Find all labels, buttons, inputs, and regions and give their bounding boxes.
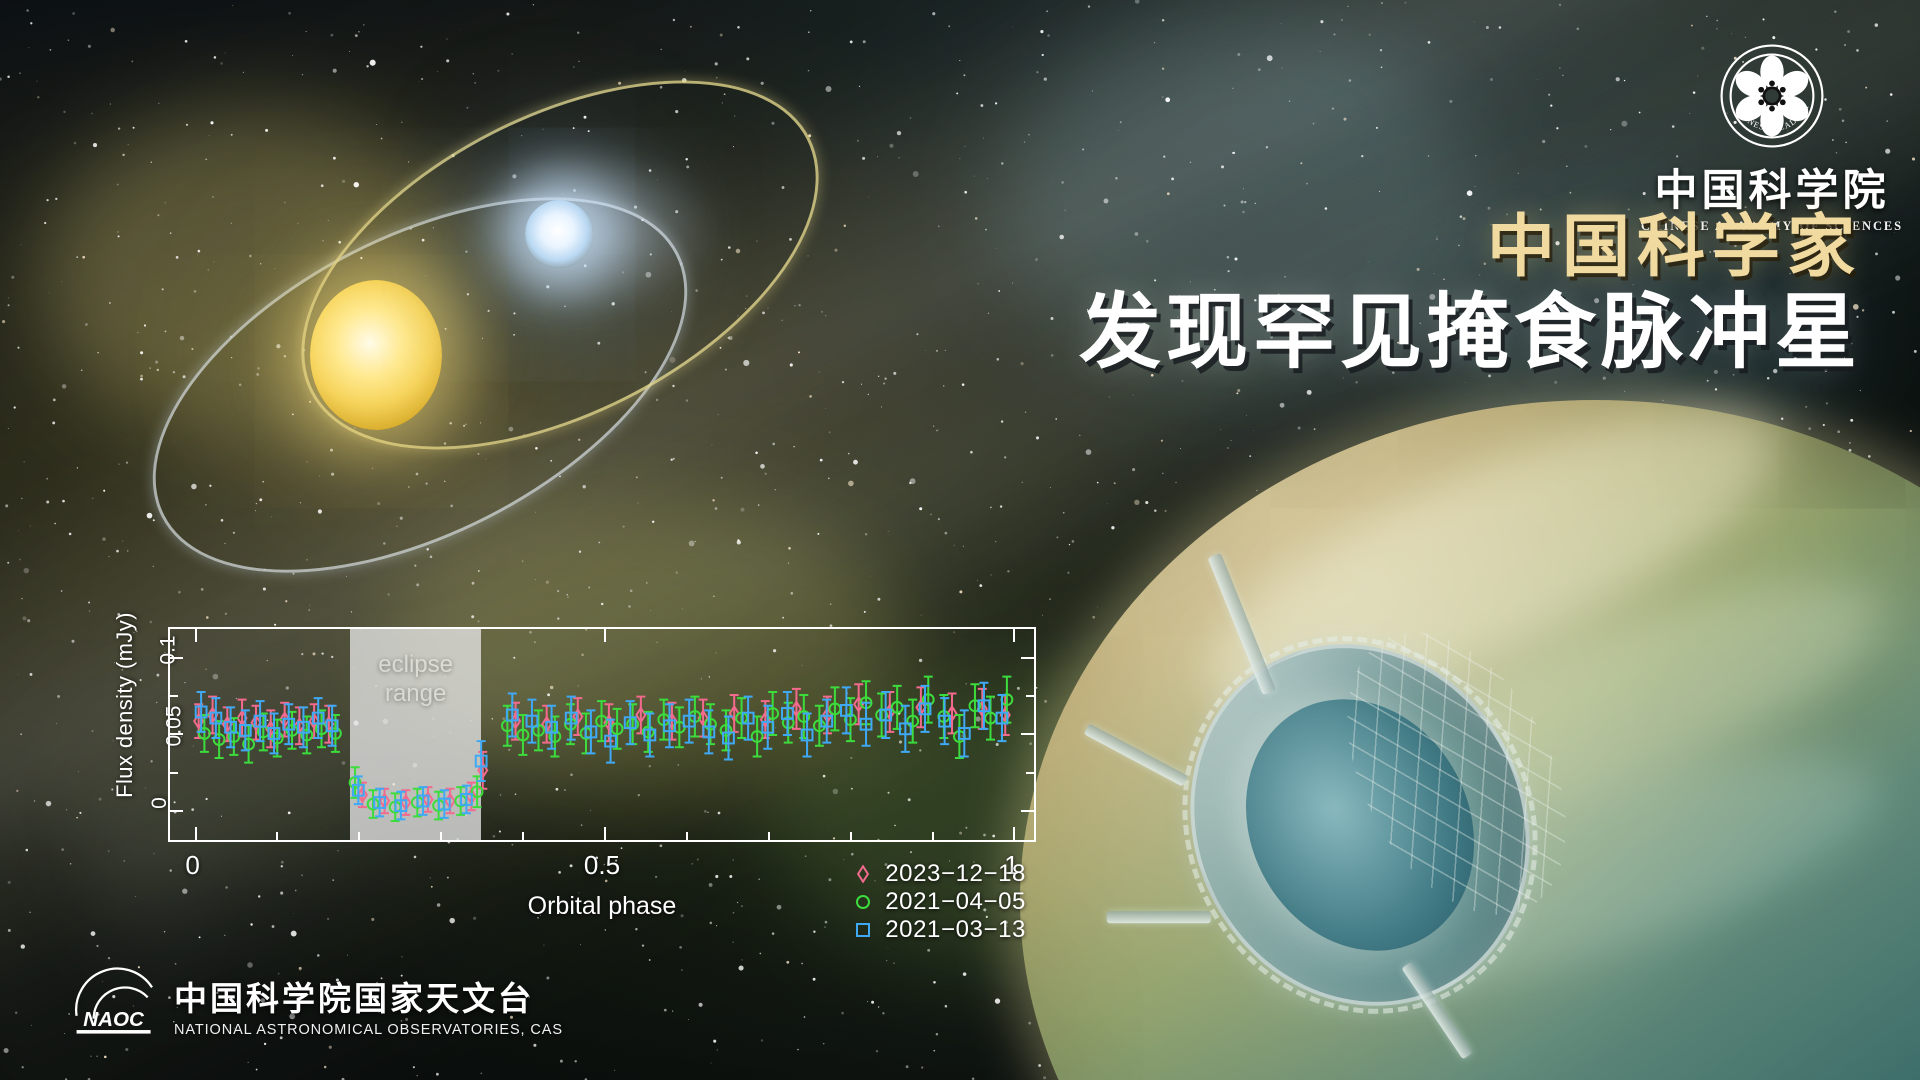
x-minor-tick bbox=[440, 832, 442, 840]
naoc-logo: NAOC 中国科学院国家天文台 NATIONAL ASTRONOMICAL OB… bbox=[72, 966, 563, 1040]
y-minor-tick bbox=[170, 772, 178, 774]
headline: 中国科学家 发现罕见掩食脉冲星 bbox=[1079, 212, 1862, 378]
headline-line-1: 中国科学家 bbox=[1079, 212, 1862, 284]
y-major-tick bbox=[170, 733, 183, 735]
data-points-layer bbox=[170, 629, 1038, 844]
infographic-poster: CHINESE ACADEMY OF SCIENCES 中国科学院 CHINES… bbox=[0, 0, 1920, 1080]
binary-star-system bbox=[120, 95, 820, 565]
x-major-tick bbox=[1013, 827, 1015, 840]
y-minor-tick bbox=[170, 695, 178, 697]
legend-label: 2021−03−13 bbox=[885, 916, 1026, 944]
plot-area: eclipse range bbox=[168, 627, 1036, 842]
naoc-wordmark: 中国科学院国家天文台 NATIONAL ASTRONOMICAL OBSERVA… bbox=[174, 972, 563, 1040]
white-pulsar-star bbox=[525, 200, 593, 268]
y-major-tick-right bbox=[1021, 657, 1034, 659]
naoc-name-en: NATIONAL ASTRONOMICAL OBSERVATORIES, CAS bbox=[174, 1022, 563, 1038]
y-major-tick-right bbox=[1021, 810, 1034, 812]
x-minor-tick bbox=[686, 832, 688, 840]
legend-item-2021-03-13[interactable]: 2021−03−13 bbox=[852, 916, 1026, 944]
yellow-companion-star bbox=[310, 280, 442, 430]
legend-label: 2021−04−05 bbox=[885, 888, 1026, 916]
naoc-name-cn: 中国科学院国家天文台 bbox=[174, 972, 563, 1020]
y-major-tick bbox=[170, 657, 183, 659]
x-tick-label: 0.5 bbox=[584, 850, 620, 881]
circle-marker-icon bbox=[852, 891, 874, 913]
y-major-tick-right bbox=[1021, 733, 1034, 735]
y-axis-label: Flux density (mJy) bbox=[112, 580, 138, 830]
x-major-tick bbox=[604, 827, 606, 840]
x-minor-tick bbox=[850, 832, 852, 840]
y-minor-tick-right bbox=[1026, 695, 1034, 697]
x-minor-tick bbox=[932, 832, 934, 840]
x-minor-tick bbox=[768, 832, 770, 840]
x-major-tick-top bbox=[195, 629, 197, 642]
x-tick-label: 0 bbox=[185, 850, 199, 881]
x-minor-tick bbox=[358, 832, 360, 840]
x-major-tick bbox=[195, 827, 197, 840]
dish-support-mast-3 bbox=[1107, 911, 1211, 923]
x-major-tick-top bbox=[1013, 629, 1015, 642]
chart-legend: 2023−12−182021−04−052021−03−13 bbox=[852, 860, 1026, 944]
y-major-tick bbox=[170, 810, 183, 812]
x-minor-tick bbox=[522, 832, 524, 840]
diamond-marker-icon bbox=[852, 863, 874, 885]
legend-item-2023-12-18[interactable]: 2023−12−18 bbox=[852, 860, 1026, 888]
square-marker-icon bbox=[852, 919, 874, 941]
cas-emblem-icon: CHINESE ACADEMY OF SCIENCES bbox=[1718, 42, 1826, 150]
legend-item-2021-04-05[interactable]: 2021−04−05 bbox=[852, 888, 1026, 916]
x-minor-tick bbox=[276, 832, 278, 840]
flux-density-chart: Flux density (mJy) 00.050.1 eclipse rang… bbox=[62, 600, 1072, 960]
x-major-tick-top bbox=[604, 629, 606, 642]
naoc-dome-icon: NAOC bbox=[72, 966, 158, 1040]
y-minor-tick-right bbox=[1026, 772, 1034, 774]
naoc-mark-text: NAOC bbox=[83, 1008, 145, 1031]
legend-label: 2023−12−18 bbox=[885, 860, 1026, 888]
headline-line-2: 发现罕见掩食脉冲星 bbox=[1079, 288, 1862, 378]
